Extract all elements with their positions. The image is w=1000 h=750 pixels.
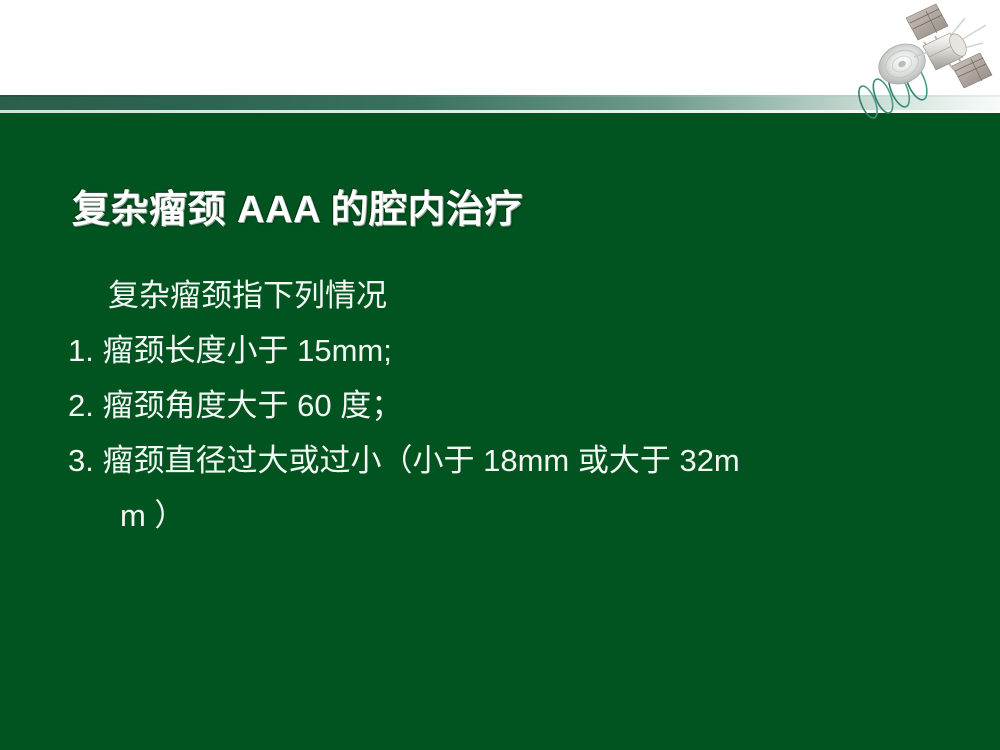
slide-canvas: 复杂瘤颈 AAA 的腔内治疗 复杂瘤颈指下列情况 1. 瘤颈长度小于 15mm;… (0, 0, 1000, 750)
list-item-text: 瘤颈长度小于 15mm; (102, 333, 391, 368)
band-top-edge-line (0, 95, 1000, 97)
header-accent-band (0, 95, 1000, 117)
lead-paragraph: 复杂瘤颈指下列情况 (68, 268, 948, 323)
band-gradient-fill (0, 95, 1000, 110)
header-white-area (0, 0, 1000, 96)
list-item-continuation: m ） (68, 488, 948, 543)
list-item: 1. 瘤颈长度小于 15mm; (68, 323, 948, 378)
list-item: 2. 瘤颈角度大于 60 度； (68, 378, 948, 433)
list-item-number: 3. (68, 443, 94, 478)
list-item: 3. 瘤颈直径过大或过小（小于 18mm 或大于 32m (68, 433, 948, 488)
slide-body: 复杂瘤颈指下列情况 1. 瘤颈长度小于 15mm; 2. 瘤颈角度大于 60 度… (68, 268, 948, 543)
list-item-text: 瘤颈直径过大或过小（小于 18mm 或大于 32m (102, 443, 739, 478)
page-title: 复杂瘤颈 AAA 的腔内治疗 (72, 178, 523, 233)
list-item-number: 1. (68, 333, 94, 368)
list-item-number: 2. (68, 388, 94, 423)
list-item-text: 瘤颈角度大于 60 度； (102, 388, 402, 423)
